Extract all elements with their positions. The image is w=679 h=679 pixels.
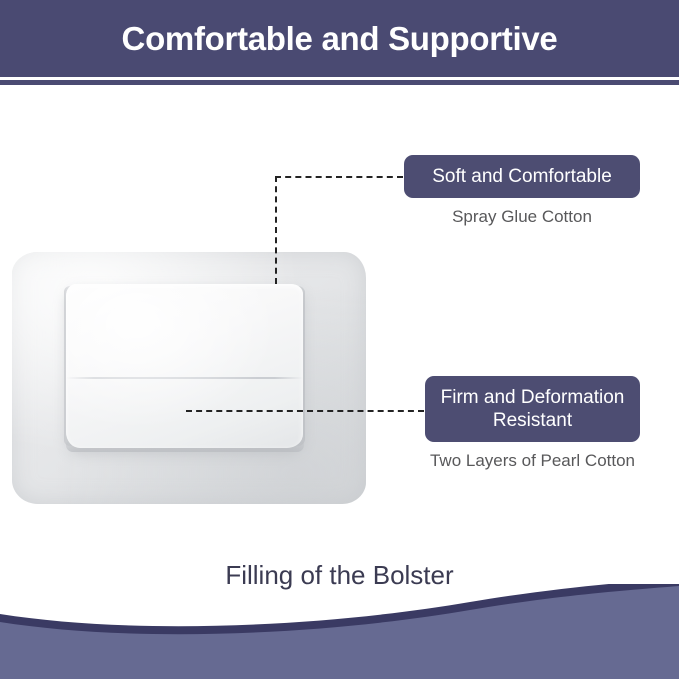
product-image <box>8 246 370 508</box>
leader-line-1-horizontal <box>275 176 403 178</box>
callout-firm-and-deformation-resistant: Firm and Deformation Resistant Two Layer… <box>425 376 640 471</box>
callout-soft-and-comfortable: Soft and Comfortable Spray Glue Cotton <box>404 155 640 227</box>
header-accent-rule <box>0 80 679 85</box>
pillow-inner-block <box>66 284 303 448</box>
callout-1-label: Soft and Comfortable <box>404 155 640 198</box>
callout-1-sublabel: Spray Glue Cotton <box>404 207 640 227</box>
leader-line-1-vertical <box>275 176 277 284</box>
footer-wave-decoration <box>0 584 679 679</box>
callout-2-label: Firm and Deformation Resistant <box>425 376 640 442</box>
page-title: Comfortable and Supportive <box>122 22 558 55</box>
leader-line-2-horizontal <box>186 410 424 412</box>
callout-2-sublabel: Two Layers of Pearl Cotton <box>425 451 640 471</box>
header-band: Comfortable and Supportive <box>0 0 679 77</box>
infographic-page: Comfortable and Supportive Soft and Comf… <box>0 0 679 679</box>
footer-wave-fill <box>0 586 679 679</box>
